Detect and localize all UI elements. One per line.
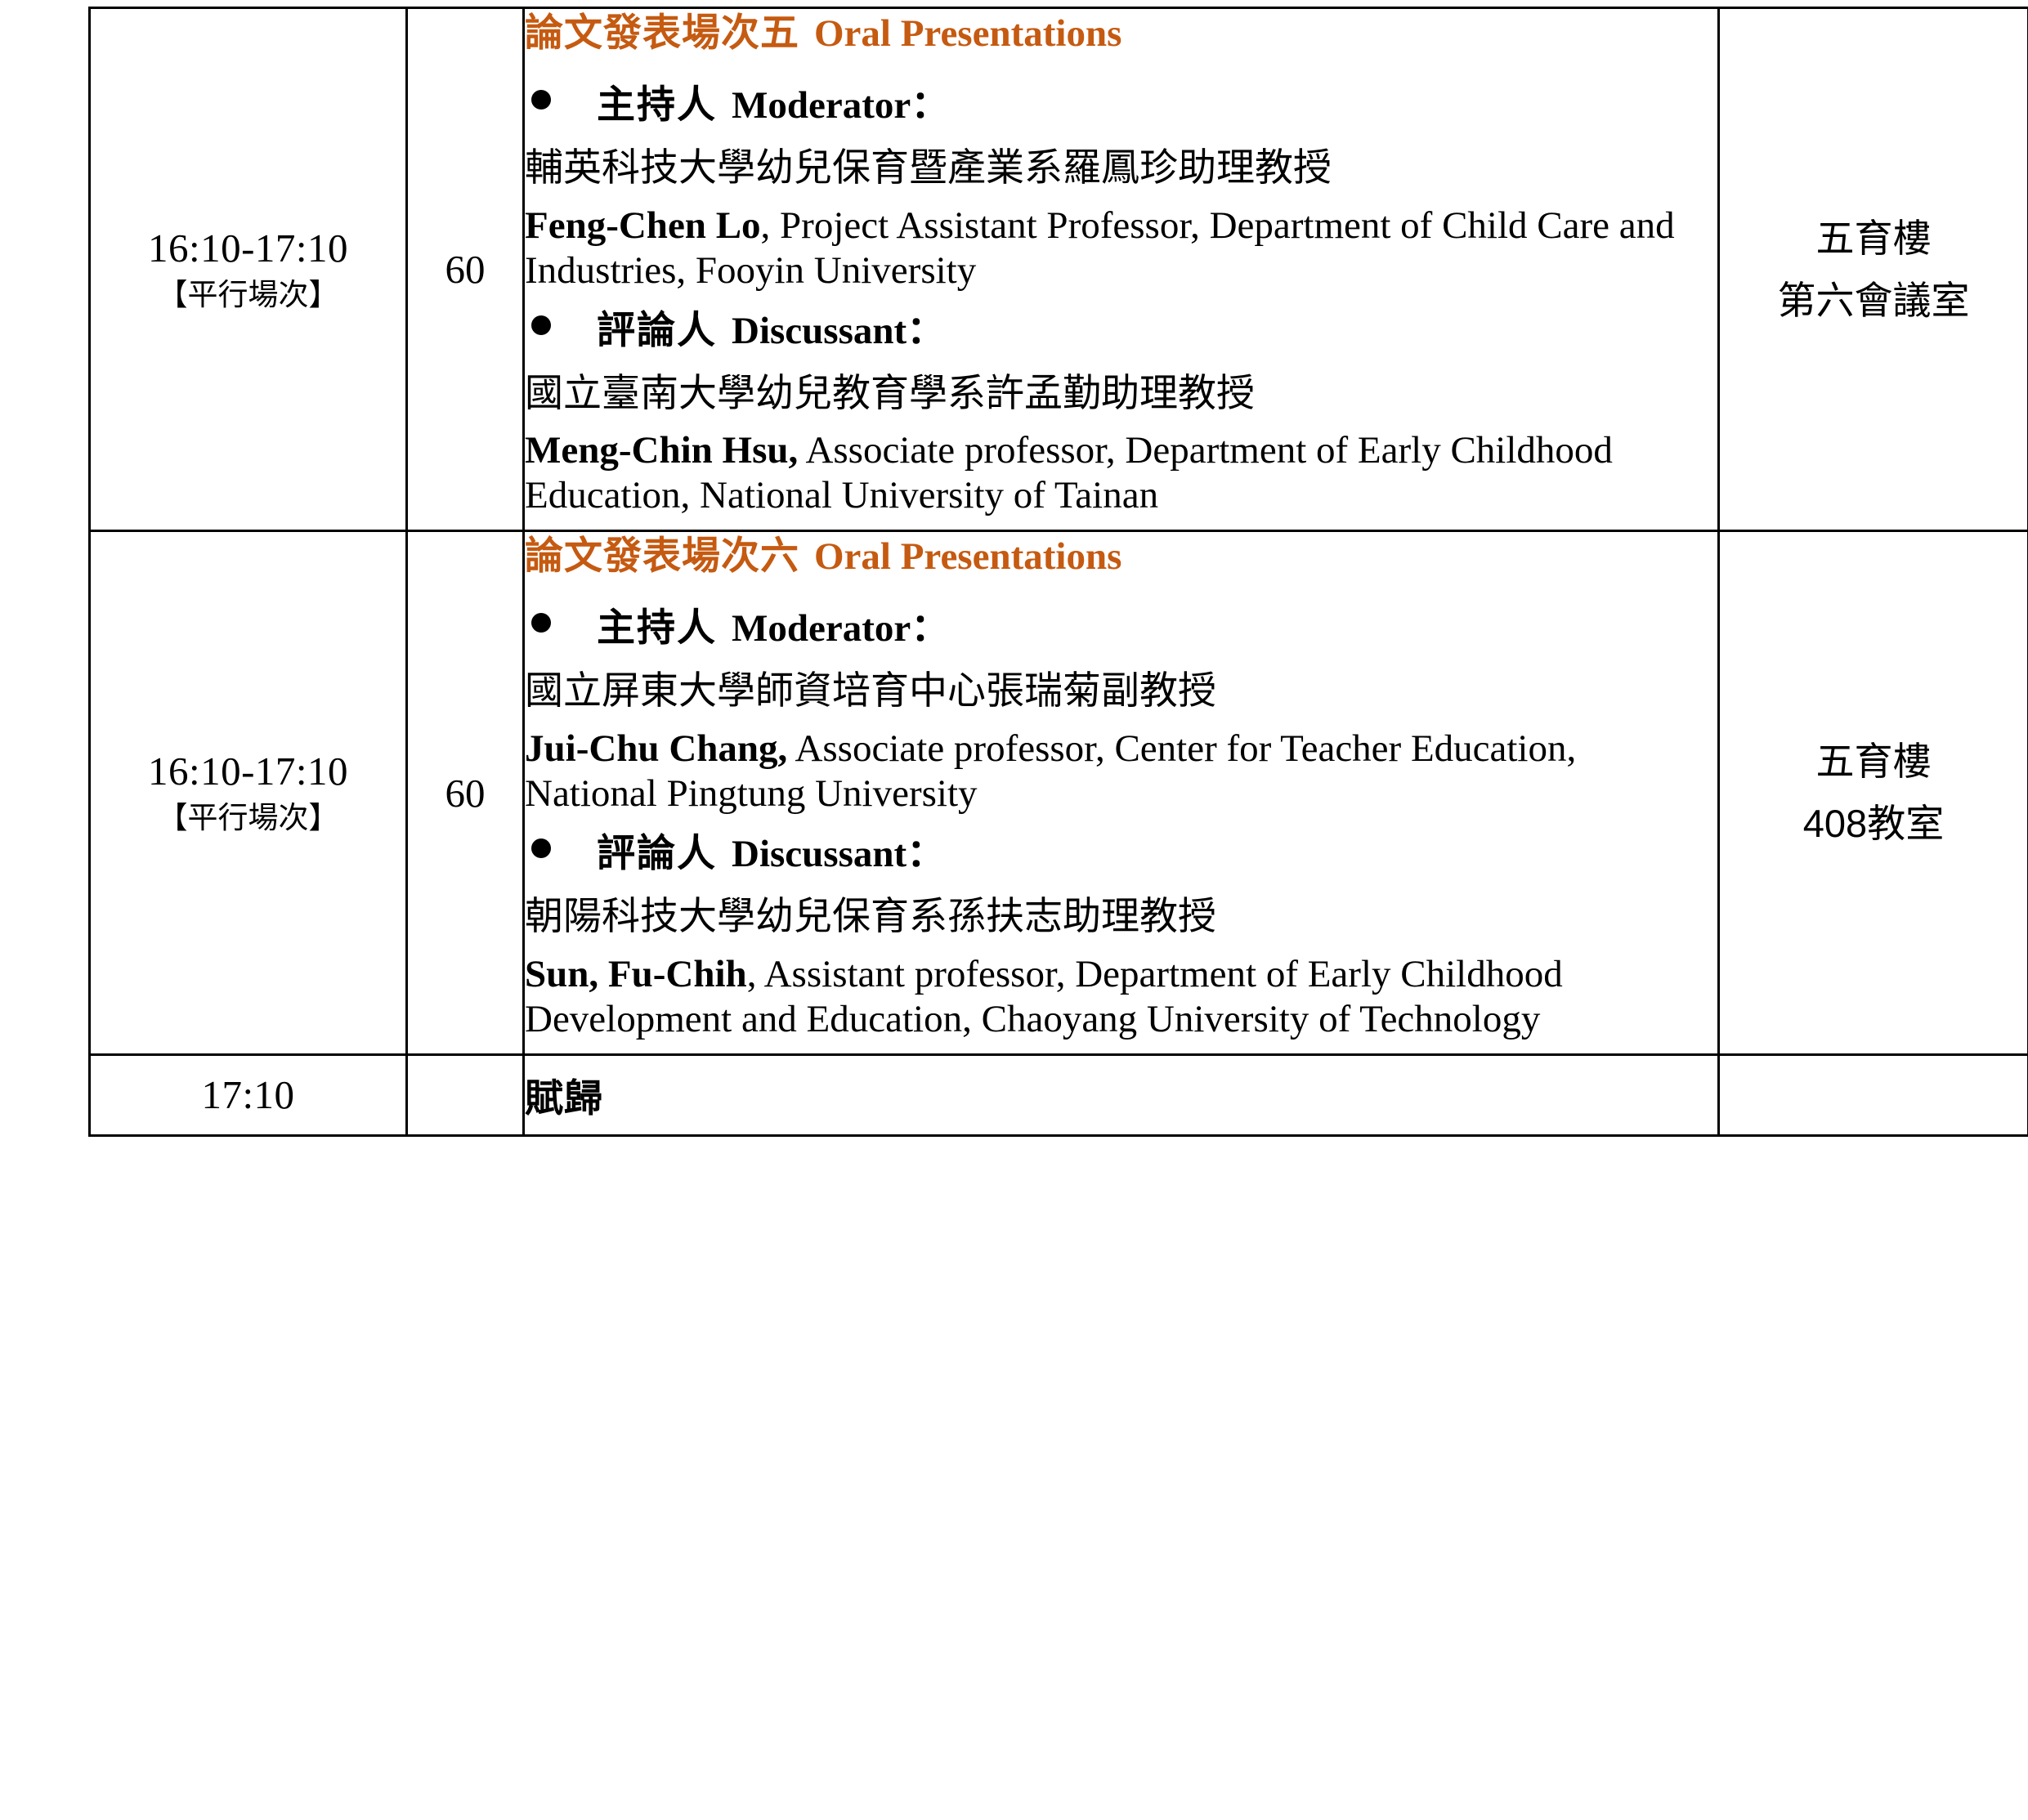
session-time: 16:10-17:10 <box>91 748 405 795</box>
closing-location-cell <box>1719 1054 2028 1135</box>
closing-time-cell: 17:10 <box>90 1054 407 1135</box>
discussant-name-en: Sun, Fu-Chih <box>525 953 747 995</box>
moderator-name-en: Jui-Chu Chang, <box>525 727 787 770</box>
session-time-cell: 16:10-17:10 【平行場次】 <box>90 531 407 1054</box>
session-duration: 60 <box>445 771 486 816</box>
moderator-affiliation-en: Feng-Chen Lo, Project Assistant Professo… <box>525 203 1717 293</box>
moderator-affiliation-en: Jui-Chu Chang, Associate professor, Cent… <box>525 727 1717 816</box>
session-location-cell: 五育樓 408教室 <box>1719 531 2028 1054</box>
discussant-affiliation-en: Sun, Fu-Chih, Assistant professor, Depar… <box>525 952 1717 1042</box>
session-room: 第六會議室 <box>1720 270 2027 332</box>
discussant-block: 評論人Discussant： 朝陽科技大學幼兒保育系孫扶志助理教授 Sun, F… <box>525 828 1717 1042</box>
table-row: 16:10-17:10 【平行場次】 60 論文發表場次五Oral Presen… <box>90 8 2028 531</box>
moderator-label-en: Moderator <box>732 81 911 131</box>
moderator-label-line: 主持人Moderator： <box>525 602 1717 654</box>
discussant-label-en: Discussant <box>732 306 907 356</box>
discussant-label-line: 評論人Discussant： <box>525 305 1717 356</box>
session-heading-zh: 論文發表場次五 <box>525 11 799 54</box>
session-details-cell: 論文發表場次五Oral Presentations 主持人Moderator： … <box>524 8 1719 531</box>
session-duration-cell: 60 <box>407 531 524 1054</box>
session-room: 408教室 <box>1720 793 2027 855</box>
discussant-colon: ： <box>907 305 945 355</box>
moderator-colon: ： <box>911 602 949 652</box>
session-building: 五育樓 <box>1720 208 2027 270</box>
document-page: 16:10-17:10 【平行場次】 60 論文發表場次五Oral Presen… <box>0 7 2028 1820</box>
discussant-name-en: Meng-Chin Hsu, <box>525 429 798 472</box>
moderator-block: 主持人Moderator： 輔英科技大學幼兒保育暨產業系羅鳳珍助理教授 Feng… <box>525 79 1717 293</box>
session-duration-cell: 60 <box>407 8 524 531</box>
bullet-icon <box>531 90 551 110</box>
session-time-note: 【平行場次】 <box>91 275 405 315</box>
moderator-label-line: 主持人Moderator： <box>525 79 1717 131</box>
discussant-label-en: Discussant <box>732 830 907 879</box>
session-heading: 論文發表場次六Oral Presentations <box>525 532 1717 581</box>
bullet-icon <box>531 315 551 335</box>
moderator-affiliation-zh: 國立屏東大學師資培育中心張瑞菊副教授 <box>525 664 1717 718</box>
session-duration: 60 <box>445 247 486 292</box>
session-heading-en: Oral Presentations <box>814 535 1121 578</box>
session-heading-en: Oral Presentations <box>814 12 1121 55</box>
discussant-label-line: 評論人Discussant： <box>525 828 1717 879</box>
discussant-affiliation-zh: 國立臺南大學幼兒教育學系許孟勤助理教授 <box>525 366 1717 421</box>
closing-row: 17:10 賦歸 <box>90 1054 2028 1135</box>
closing-duration-cell <box>407 1054 524 1135</box>
moderator-label-zh: 主持人 <box>597 602 717 652</box>
discussant-affiliation-en: Meng-Chin Hsu, Associate professor, Depa… <box>525 428 1717 518</box>
moderator-label-zh: 主持人 <box>597 79 717 129</box>
session-time: 16:10-17:10 <box>91 225 405 272</box>
closing-label-cell: 賦歸 <box>524 1054 1719 1135</box>
session-location-cell: 五育樓 第六會議室 <box>1719 8 2028 531</box>
moderator-colon: ： <box>911 79 949 129</box>
moderator-label-en: Moderator <box>732 604 911 654</box>
session-heading: 論文發表場次五Oral Presentations <box>525 9 1717 58</box>
discussant-colon: ： <box>907 828 945 878</box>
discussant-label-zh: 評論人 <box>597 305 717 355</box>
session-details-cell: 論文發表場次六Oral Presentations 主持人Moderator： … <box>524 531 1719 1054</box>
conference-schedule-table: 16:10-17:10 【平行場次】 60 論文發表場次五Oral Presen… <box>88 7 2028 1137</box>
closing-time: 17:10 <box>91 1071 405 1119</box>
moderator-name-en: Feng-Chen Lo <box>525 204 761 247</box>
table-row: 16:10-17:10 【平行場次】 60 論文發表場次六Oral Presen… <box>90 531 2028 1054</box>
moderator-affiliation-zh: 輔英科技大學幼兒保育暨產業系羅鳳珍助理教授 <box>525 141 1717 195</box>
discussant-block: 評論人Discussant： 國立臺南大學幼兒教育學系許孟勤助理教授 Meng-… <box>525 305 1717 519</box>
session-time-cell: 16:10-17:10 【平行場次】 <box>90 8 407 531</box>
discussant-affiliation-zh: 朝陽科技大學幼兒保育系孫扶志助理教授 <box>525 889 1717 944</box>
session-building: 五育樓 <box>1720 731 2027 793</box>
closing-label: 賦歸 <box>525 1076 603 1120</box>
bullet-icon <box>531 613 551 633</box>
moderator-block: 主持人Moderator： 國立屏東大學師資培育中心張瑞菊副教授 Jui-Chu… <box>525 602 1717 816</box>
bullet-icon <box>531 838 551 858</box>
discussant-label-zh: 評論人 <box>597 828 717 878</box>
session-time-note: 【平行場次】 <box>91 798 405 838</box>
session-heading-zh: 論文發表場次六 <box>525 534 799 577</box>
